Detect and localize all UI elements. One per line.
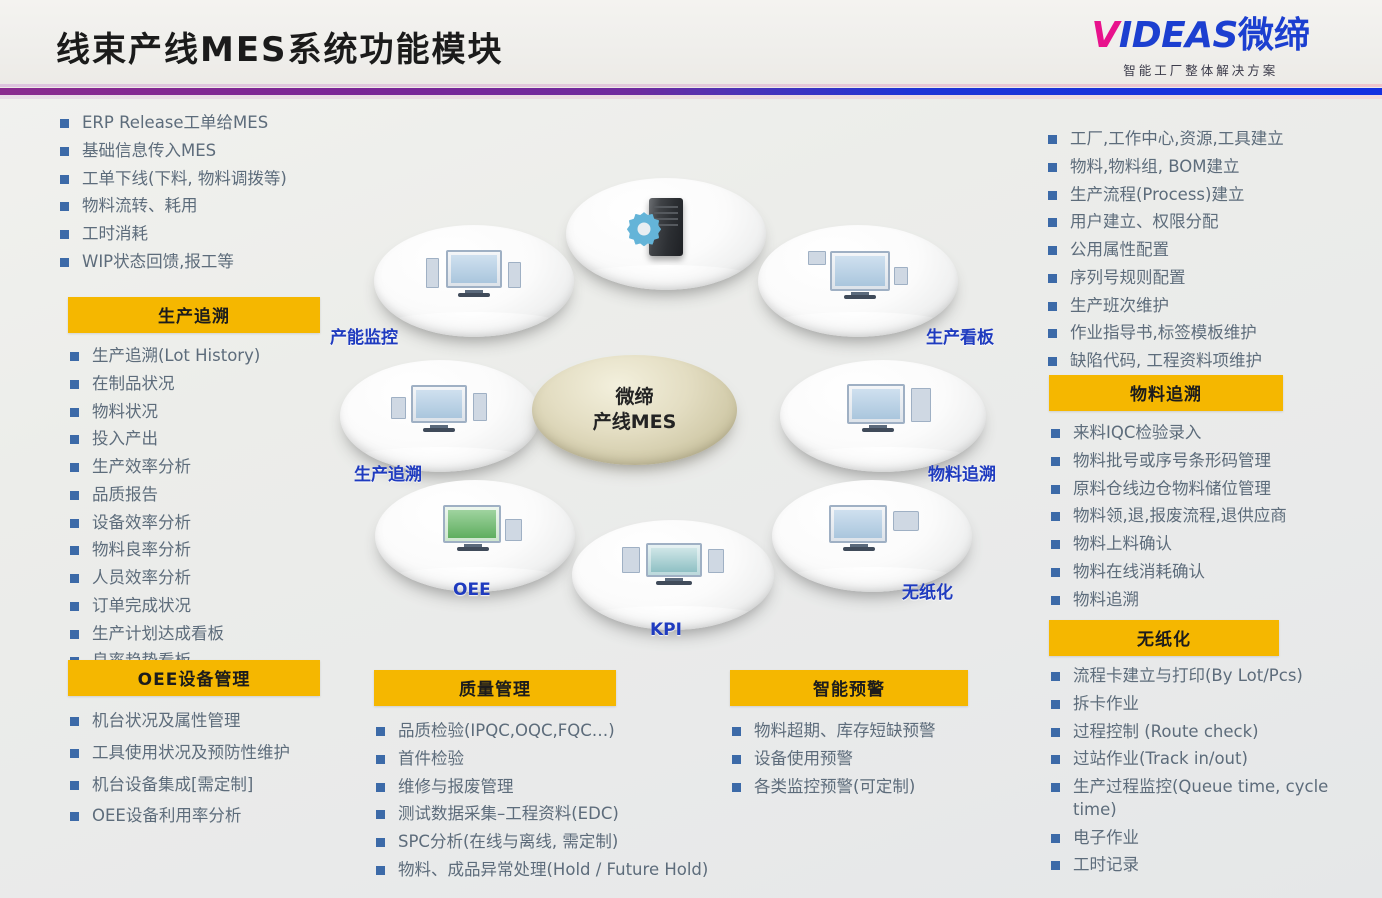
list-item: 缺陷代码, 工程资料项维护 bbox=[1046, 350, 1366, 373]
list-item: 维修与报废管理 bbox=[374, 776, 754, 799]
panel-quality: 质量管理 品质检验(IPQC,OQC,FQC…) 首件检验 维修与报废管理 测试… bbox=[374, 670, 616, 887]
list-oee-equipment: 机台状况及属性管理 工具使用状况及预防性维护 机台设备集成[需定制] OEE设备… bbox=[68, 710, 320, 828]
list-item: 物料,物料组, BOM建立 bbox=[1046, 156, 1366, 179]
list-item: 拆卡作业 bbox=[1049, 693, 1369, 716]
logo-wordmark: IDEAS bbox=[1119, 15, 1238, 56]
node-disc bbox=[780, 360, 986, 472]
list-item: 各类监控预警(可定制) bbox=[730, 776, 990, 799]
logo-tagline: 智能工厂整体解决方案 bbox=[1091, 60, 1310, 79]
list-item: 首件检验 bbox=[374, 748, 754, 771]
list-item: 品质检验(IPQC,OQC,FQC…) bbox=[374, 720, 754, 743]
list-item: 测试数据采集–工程资料(EDC) bbox=[374, 803, 754, 826]
list-item: 来料IQC检验录入 bbox=[1049, 422, 1364, 445]
header-rule-glow-top bbox=[0, 84, 1382, 87]
list-item: 订单完成状况 bbox=[68, 595, 320, 618]
list-item: 品质报告 bbox=[68, 484, 320, 507]
list-item: 机台状况及属性管理 bbox=[68, 710, 320, 733]
node-disc bbox=[572, 520, 774, 630]
capacity-monitor-art bbox=[424, 248, 524, 300]
list-item: 工单下线(下料, 物料调拨等) bbox=[58, 168, 358, 191]
list-item: 物料追溯 bbox=[1049, 589, 1364, 612]
panel-oee-equipment: OEE设备管理 机台状况及属性管理 工具使用状况及预防性维护 机台设备集成[需定… bbox=[68, 660, 320, 837]
node-paperless[interactable]: 无纸化 bbox=[772, 480, 972, 592]
mes-module-diagram: 产能监控 生产看板 bbox=[320, 150, 1040, 680]
list-item: 物料上料确认 bbox=[1049, 533, 1364, 556]
list-item: 生产过程监控(Queue time, cycle time) bbox=[1049, 776, 1369, 822]
list-item: 设备使用预警 bbox=[730, 748, 990, 771]
list-item: 基础信息传入MES bbox=[58, 140, 358, 163]
list-item: 机台设备集成[需定制] bbox=[68, 774, 320, 797]
list-item: ERP Release工单给MES bbox=[58, 112, 358, 135]
node-capacity-monitor[interactable]: 产能监控 bbox=[374, 225, 574, 337]
paperless-art bbox=[821, 503, 923, 555]
kpi-art bbox=[618, 543, 728, 593]
panel-smart-alert: 智能预警 物料超期、库存短缺预警 设备使用预警 各类监控预警(可定制) bbox=[730, 670, 968, 803]
list-item: OEE设备利用率分析 bbox=[68, 805, 320, 828]
panel-top-left: ERP Release工单给MES 基础信息传入MES 工单下线(下料, 物料调… bbox=[58, 112, 358, 279]
node-label-capacity-monitor: 产能监控 bbox=[330, 323, 398, 348]
panel-title-oee-equipment: OEE设备管理 bbox=[68, 660, 320, 696]
list-item: 工时消耗 bbox=[58, 223, 358, 246]
list-item: 生产计划达成看板 bbox=[68, 623, 320, 646]
center-line-1: 微缔 bbox=[615, 385, 653, 410]
list-item: 生产班次维护 bbox=[1046, 295, 1366, 318]
node-material-trace[interactable]: 物料追溯 bbox=[780, 360, 986, 472]
list-item: 物料在线消耗确认 bbox=[1049, 561, 1364, 584]
node-oee[interactable]: OEE bbox=[375, 480, 575, 592]
list-item: 公用属性配置 bbox=[1046, 239, 1366, 262]
node-disc bbox=[758, 225, 958, 337]
list-item: 投入产出 bbox=[68, 428, 320, 451]
logo-chinese-name: 微缔 bbox=[1238, 15, 1310, 56]
node-production-board[interactable]: 生产看板 bbox=[758, 225, 958, 337]
header-rule-glow-bottom bbox=[0, 95, 1382, 99]
list-item: 物料领,退,报废流程,退供应商 bbox=[1049, 505, 1364, 528]
list-item: 序列号规则配置 bbox=[1046, 267, 1366, 290]
list-item: 物料批号或序号条形码管理 bbox=[1049, 450, 1364, 473]
list-item: 用户建立、权限分配 bbox=[1046, 211, 1366, 234]
oee-art bbox=[425, 503, 525, 555]
list-item: 物料超期、库存短缺预警 bbox=[730, 720, 990, 743]
list-item: 生产流程(Process)建立 bbox=[1046, 184, 1366, 207]
company-logo: VIDEAS微缔 智能工厂整体解决方案 bbox=[1091, 18, 1310, 79]
node-production-trace[interactable]: 生产追溯 bbox=[340, 360, 540, 472]
node-disc bbox=[566, 178, 766, 290]
list-item: 流程卡建立与打印(By Lot/Pcs) bbox=[1049, 665, 1369, 688]
node-server[interactable] bbox=[566, 178, 766, 290]
list-item: 原料仓线边仓物料储位管理 bbox=[1049, 478, 1364, 501]
material-trace-art bbox=[831, 382, 935, 436]
list-item: 物料、成品异常处理(Hold / Future Hold) bbox=[374, 859, 754, 882]
node-disc bbox=[374, 225, 574, 337]
list-item: 物料良率分析 bbox=[68, 539, 320, 562]
production-board-art bbox=[806, 247, 910, 301]
list-item: SPC分析(在线与离线, 需定制) bbox=[374, 831, 754, 854]
node-label-production-board: 生产看板 bbox=[926, 323, 994, 348]
panel-paperless: 无纸化 流程卡建立与打印(By Lot/Pcs) 拆卡作业 过程控制 (Rout… bbox=[1049, 620, 1279, 882]
list-material-trace: 来料IQC检验录入 物料批号或序号条形码管理 原料仓线边仓物料储位管理 物料领,… bbox=[1049, 422, 1364, 611]
center-line-2: 产线MES bbox=[593, 410, 677, 435]
node-disc bbox=[772, 480, 972, 592]
header-divider-rule bbox=[0, 88, 1382, 95]
panel-title-production-trace: 生产追溯 bbox=[68, 297, 320, 333]
node-disc bbox=[375, 480, 575, 592]
node-label-kpi: KPI bbox=[650, 620, 682, 640]
list-item: 生产效率分析 bbox=[68, 456, 320, 479]
node-disc bbox=[340, 360, 540, 472]
list-item: 设备效率分析 bbox=[68, 512, 320, 535]
node-kpi[interactable]: KPI bbox=[572, 520, 774, 630]
list-quality: 品质检验(IPQC,OQC,FQC…) 首件检验 维修与报废管理 测试数据采集–… bbox=[374, 720, 754, 882]
list-item: 人员效率分析 bbox=[68, 567, 320, 590]
list-item: 过程控制 (Route check) bbox=[1049, 721, 1369, 744]
panel-top-right: 工厂,工作中心,资源,工具建立 物料,物料组, BOM建立 生产流程(Proce… bbox=[1046, 128, 1366, 378]
page-header: 线束产线MES系统功能模块 VIDEAS微缔 智能工厂整体解决方案 bbox=[0, 0, 1382, 88]
list-item: 物料状况 bbox=[68, 401, 320, 424]
panel-production-trace: 生产追溯 生产追溯(Lot History) 在制品状况 物料状况 投入产出 生… bbox=[68, 297, 320, 678]
list-item: 工时记录 bbox=[1049, 854, 1369, 877]
panel-material-trace: 物料追溯 来料IQC检验录入 物料批号或序号条形码管理 原料仓线边仓物料储位管理… bbox=[1049, 375, 1283, 616]
node-label-paperless: 无纸化 bbox=[902, 578, 953, 603]
production-trace-art bbox=[391, 383, 489, 435]
panel-title-paperless: 无纸化 bbox=[1049, 620, 1279, 656]
list-item: 生产追溯(Lot History) bbox=[68, 345, 320, 368]
panel-title-material-trace: 物料追溯 bbox=[1049, 375, 1283, 411]
list-top-right: 工厂,工作中心,资源,工具建立 物料,物料组, BOM建立 生产流程(Proce… bbox=[1046, 128, 1366, 373]
server-icon bbox=[649, 198, 683, 256]
node-label-oee: OEE bbox=[453, 580, 491, 600]
list-item: 作业指导书,标签模板维护 bbox=[1046, 322, 1366, 345]
list-production-trace: 生产追溯(Lot History) 在制品状况 物料状况 投入产出 生产效率分析… bbox=[68, 345, 320, 673]
list-item: 物料流转、耗用 bbox=[58, 195, 358, 218]
logo-v-mark: V bbox=[1091, 15, 1118, 56]
list-item: 在制品状况 bbox=[68, 373, 320, 396]
list-smart-alert: 物料超期、库存短缺预警 设备使用预警 各类监控预警(可定制) bbox=[730, 720, 990, 798]
list-item: 过站作业(Track in/out) bbox=[1049, 748, 1369, 771]
list-item: 电子作业 bbox=[1049, 827, 1369, 850]
diagram-center-node[interactable]: 微缔 产线MES bbox=[532, 355, 737, 465]
list-paperless: 流程卡建立与打印(By Lot/Pcs) 拆卡作业 过程控制 (Route ch… bbox=[1049, 665, 1369, 877]
list-item: 工具使用状况及预防性维护 bbox=[68, 742, 320, 765]
list-item: 工厂,工作中心,资源,工具建立 bbox=[1046, 128, 1366, 151]
list-top-left: ERP Release工单给MES 基础信息传入MES 工单下线(下料, 物料调… bbox=[58, 112, 358, 274]
list-item: WIP状态回馈,报工等 bbox=[58, 251, 358, 274]
page-title: 线束产线MES系统功能模块 bbox=[56, 22, 504, 71]
